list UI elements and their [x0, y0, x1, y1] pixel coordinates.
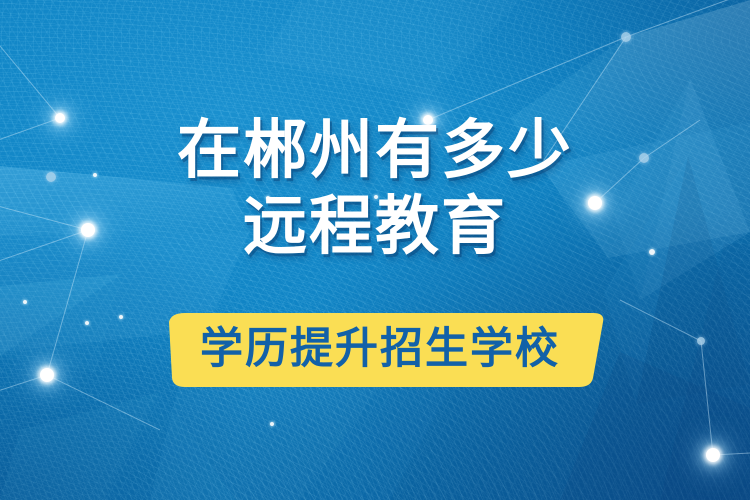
decor-node	[23, 300, 27, 304]
decor-node	[119, 315, 123, 319]
promo-banner: 在郴州有多少 远程教育 学历提升招生学校	[0, 0, 750, 500]
headline-line-1: 在郴州有多少	[0, 112, 750, 188]
highlight-ribbon: 学历提升招生学校	[155, 312, 605, 388]
headline-line-2: 远程教育	[0, 188, 750, 264]
decor-node	[270, 422, 274, 426]
ribbon-label: 学历提升招生学校	[155, 312, 605, 388]
decor-node	[621, 32, 631, 42]
decor-node	[85, 321, 89, 325]
decor-node	[706, 448, 720, 462]
headline-block: 在郴州有多少 远程教育	[0, 112, 750, 264]
decor-node	[40, 368, 54, 382]
decor-node	[697, 337, 705, 345]
